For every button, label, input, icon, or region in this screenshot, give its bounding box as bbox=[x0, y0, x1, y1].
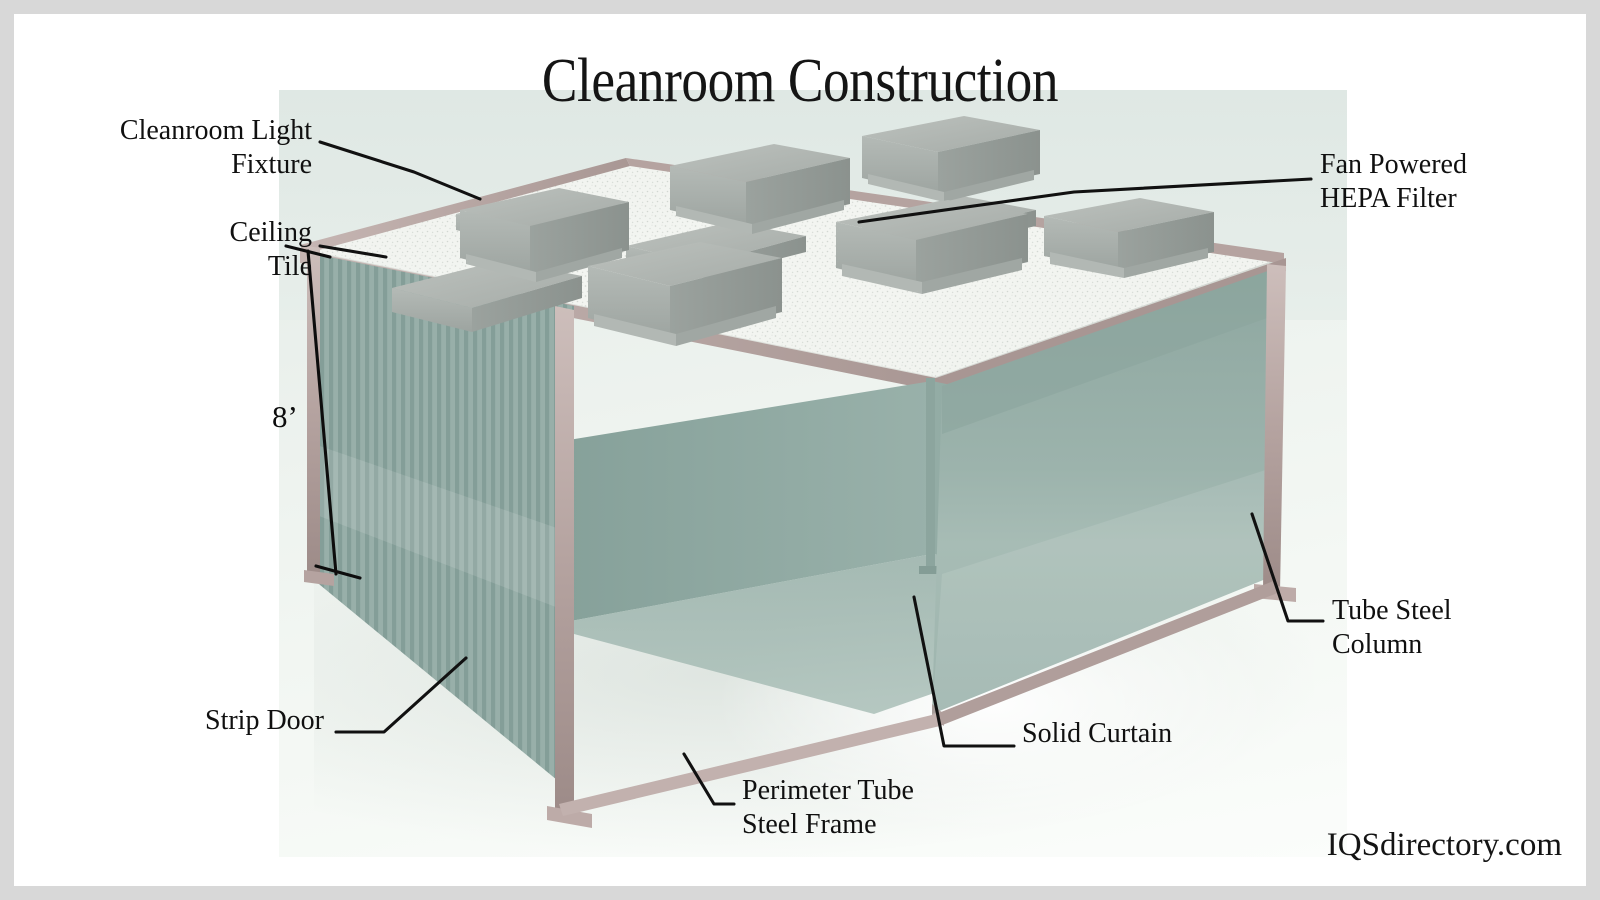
label-tube-steel-column: Tube Steel Column bbox=[1332, 594, 1586, 662]
label-cleanroom-light-fixture: Cleanroom Light Fixture bbox=[32, 114, 312, 182]
strip-door-panel bbox=[314, 254, 574, 794]
watermark: IQSdirectory.com bbox=[1327, 827, 1562, 864]
label-solid-curtain: Solid Curtain bbox=[1022, 717, 1262, 751]
diagram-canvas: Cleanroom Construction Cleanroom Light F… bbox=[14, 14, 1586, 886]
page-title: Cleanroom Construction bbox=[124, 46, 1476, 117]
screenshot-stage: Cleanroom Construction Cleanroom Light F… bbox=[0, 0, 1600, 900]
hepa-filter-unit bbox=[862, 116, 1040, 202]
label-ceiling-tile: Ceiling Tile bbox=[74, 216, 312, 284]
label-fan-powered-hepa-filter: Fan Powered HEPA Filter bbox=[1320, 148, 1586, 216]
leader-cleanroom-light-fixture bbox=[320, 142, 480, 199]
label-perimeter-tube-steel-frame: Perimeter Tube Steel Frame bbox=[742, 774, 1042, 842]
label-strip-door: Strip Door bbox=[94, 704, 324, 738]
ceiling-height-value: 8’ bbox=[272, 399, 298, 435]
